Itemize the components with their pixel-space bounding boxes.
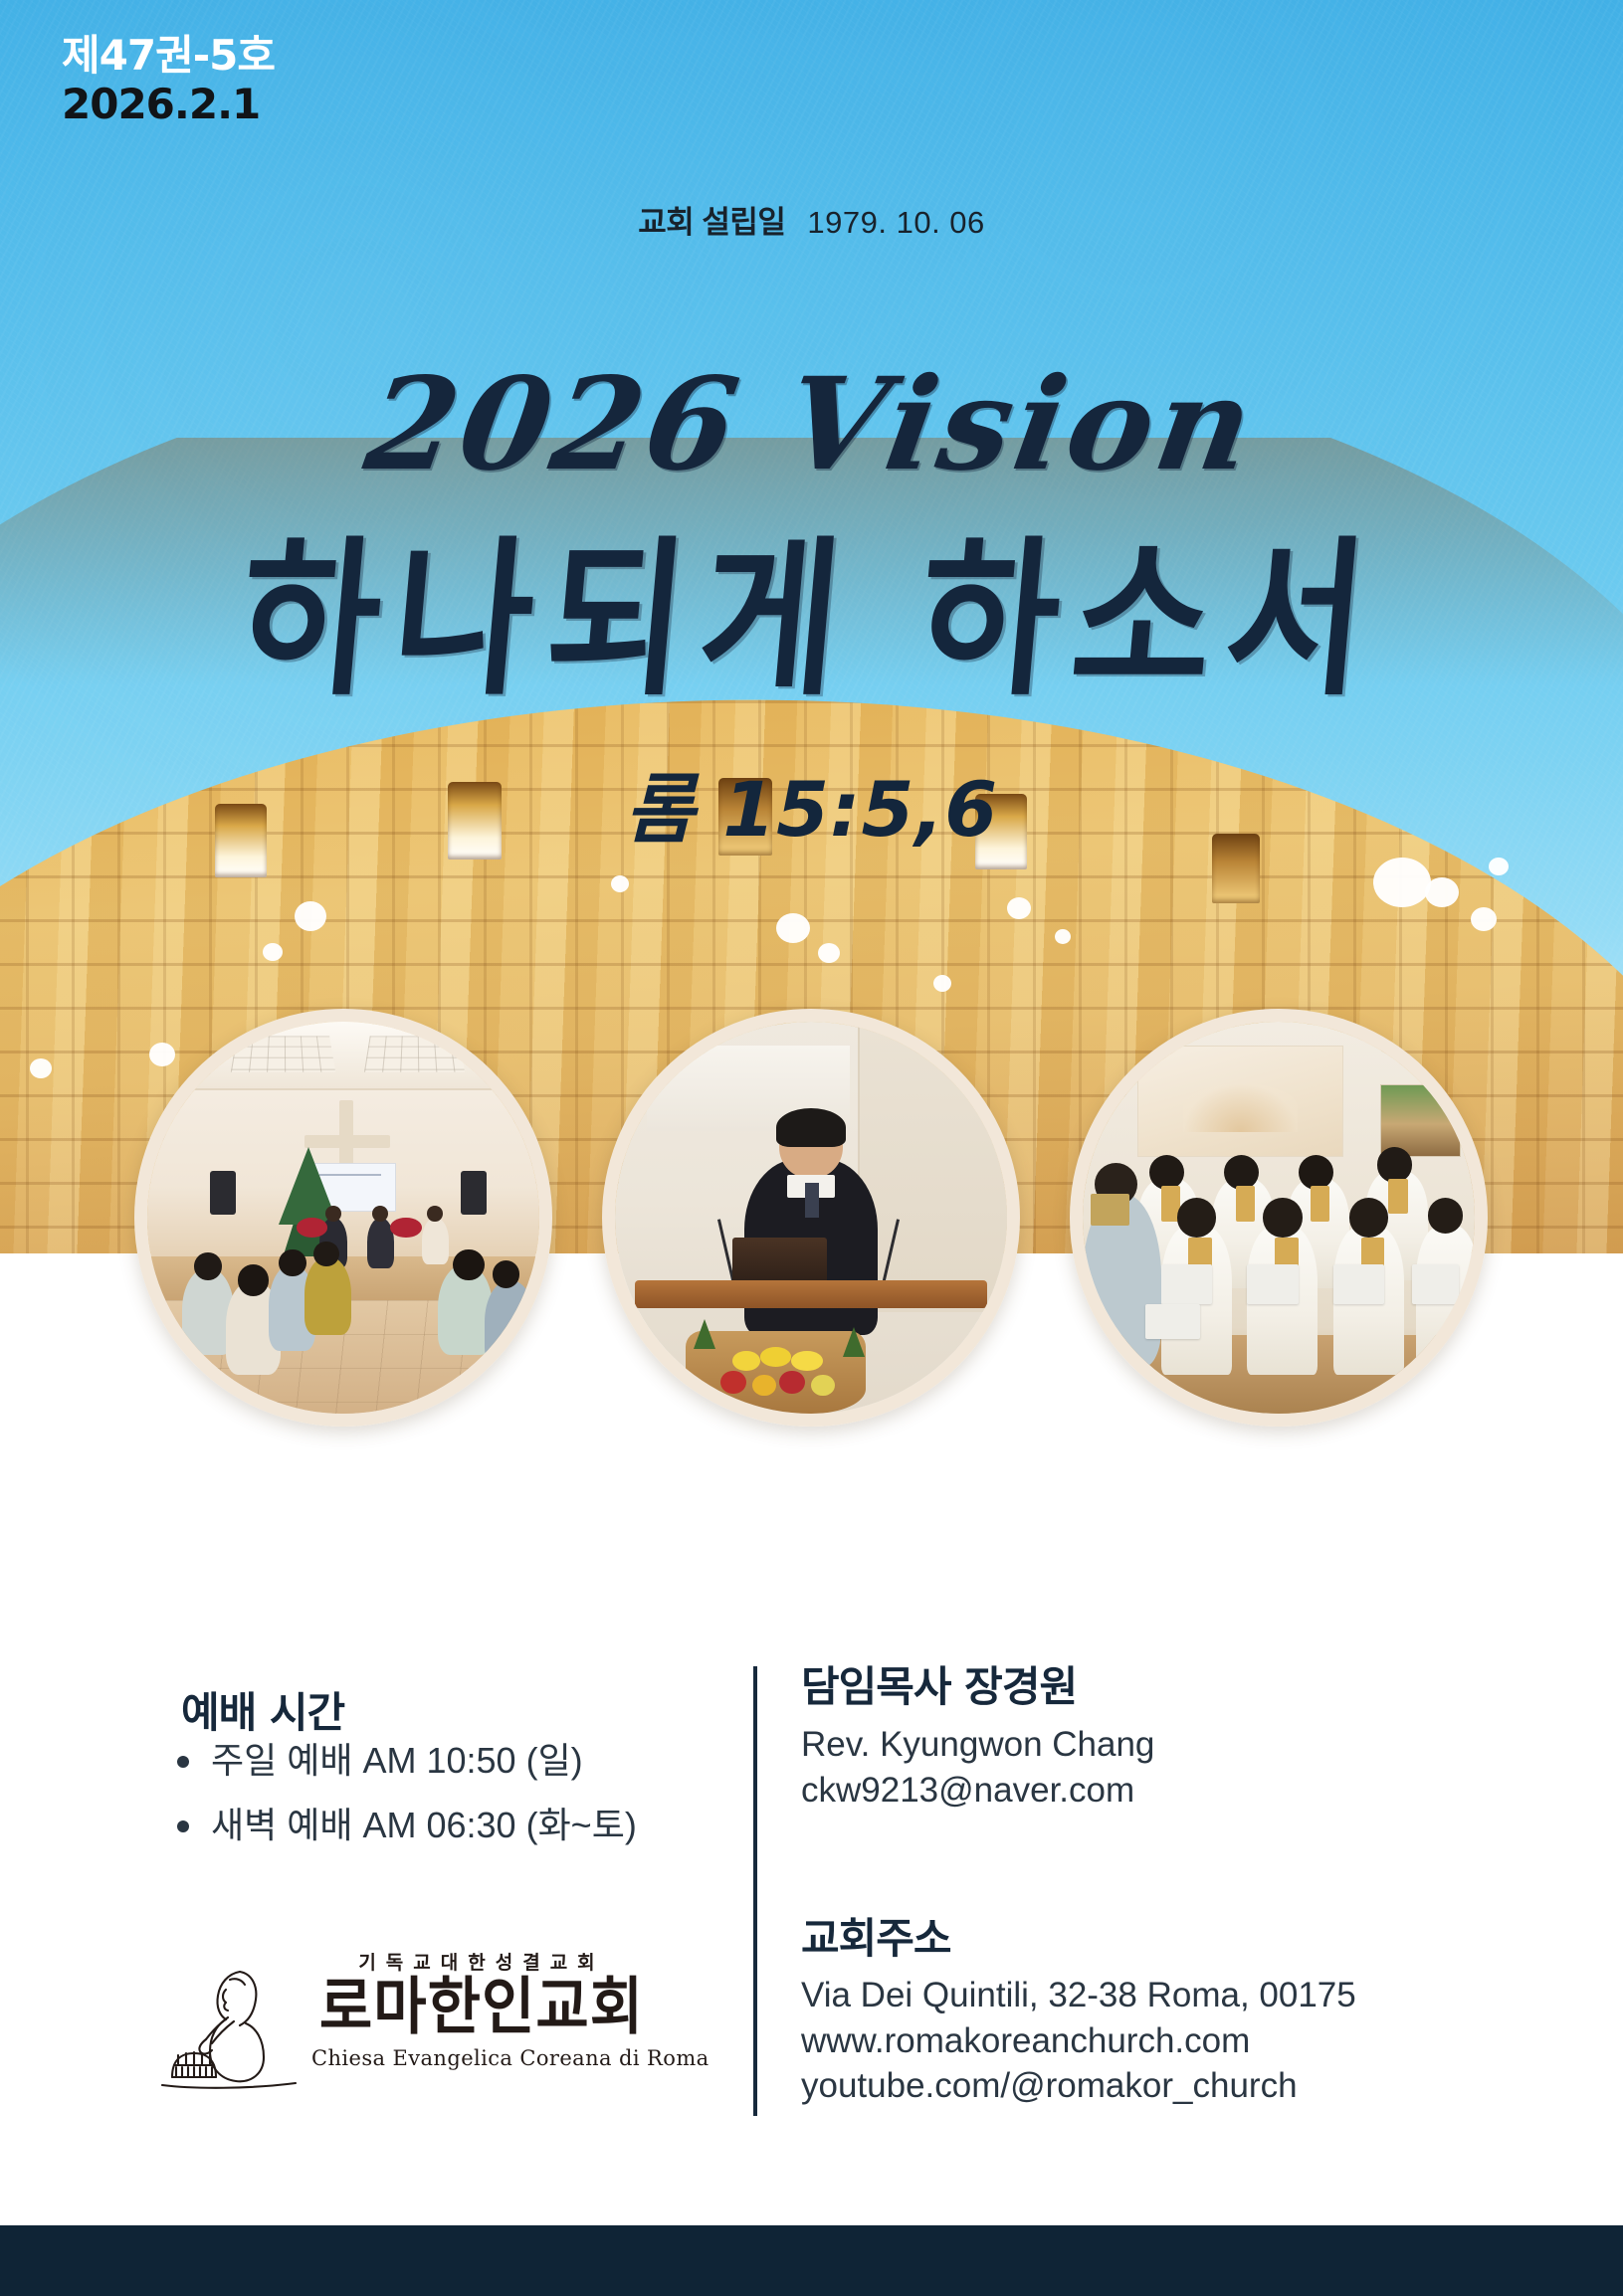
worship-times-title: 예배 시간 [181,1679,344,1740]
address-street: Via Dei Quintili, 32-38 Roma, 00175 [801,1973,1356,2018]
founding-date-line: 교회 설립일1979. 10. 06 [0,197,1623,242]
worship-time-item: 주일 예배 AM 10:50 (일) [211,1743,637,1779]
address-youtube[interactable]: youtube.com/@romakor_church [801,2063,1356,2109]
photo-pastor-preaching [602,1009,1020,1427]
pastor-email[interactable]: ckw9213@naver.com [801,1768,1154,1814]
worship-time-item: 새벽 예배 AM 06:30 (화~토) [211,1808,637,1843]
church-logo: 기독교대한성결교회 로마한인교회 Chiesa Evangelica Corea… [154,1948,652,2102]
bulletin-cover: 제47권-5호 2026.2.1 교회 설립일1979. 10. 06 2026… [0,0,1623,2296]
issue-date: 2026.2.1 [62,80,260,128]
pastor-title: 담임목사 장경원 [801,1653,1077,1714]
logo-wordmark: 기독교대한성결교회 로마한인교회 Chiesa Evangelica Corea… [311,1948,652,2070]
photo-choir [1070,1009,1488,1427]
verse-reference: 롬 15:5,6 [0,748,1623,858]
address-details: Via Dei Quintili, 32-38 Roma, 00175 www.… [801,1973,1356,2109]
address-website[interactable]: www.romakoreanchurch.com [801,2018,1356,2064]
pastor-name-en: Rev. Kyungwon Chang [801,1722,1154,1768]
founding-date-label: 교회 설립일 [638,205,785,240]
pastor-details: Rev. Kyungwon Chang ckw9213@naver.com [801,1722,1154,1813]
vision-title: 2026 Vision [0,350,1623,499]
logo-church-name: 로마한인교회 [311,1975,652,2040]
info-divider [753,1666,757,2116]
worship-times-list: 주일 예배 AM 10:50 (일) 새벽 예배 AM 06:30 (화~토) [159,1743,637,1872]
founding-date-value: 1979. 10. 06 [807,205,984,240]
address-title: 교회주소 [801,1905,951,1966]
photo-congregation-worship [134,1009,552,1427]
praying-figure-colosseum-icon [154,1956,304,2095]
issue-number: 제47권-5호 [62,22,275,83]
logo-italian-name: Chiesa Evangelica Coreana di Roma [311,2046,652,2070]
vision-slogan: 하나되게 하소서 [0,482,1623,727]
footer-bar [0,2225,1623,2296]
